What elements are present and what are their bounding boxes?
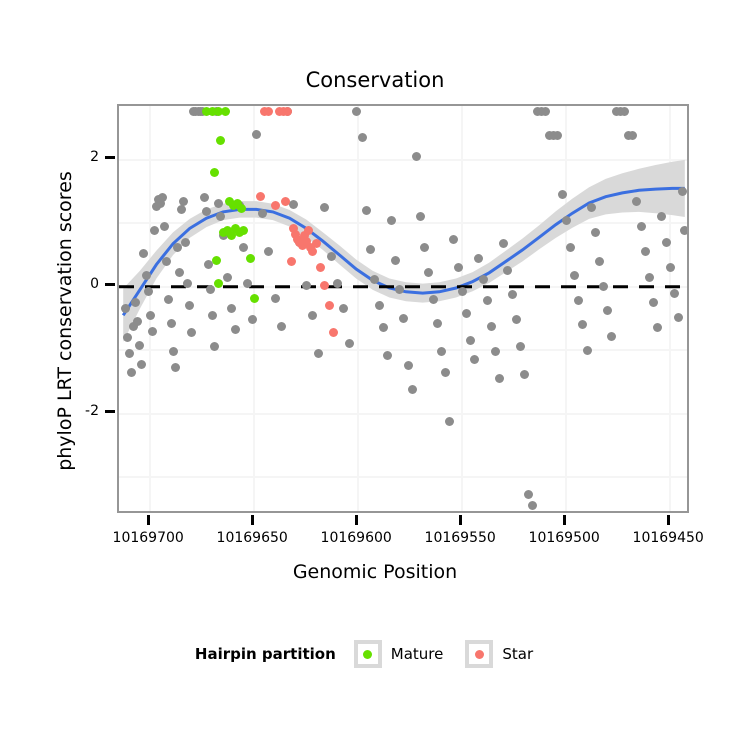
x-tick-mark [563, 515, 566, 525]
legend-label-mature: Mature [391, 645, 444, 663]
data-point-other [562, 216, 571, 225]
data-point-other [179, 197, 188, 206]
y-tick-label: 0 [59, 276, 99, 292]
data-point-other [177, 205, 186, 214]
y-tick-mark [105, 410, 115, 413]
legend-key-star[interactable] [465, 640, 493, 668]
legend-key-mature[interactable] [354, 640, 382, 668]
data-point-other [454, 263, 463, 272]
data-point-other [441, 368, 450, 377]
data-point-other [358, 133, 367, 142]
data-point-other [252, 130, 261, 139]
data-point-other [223, 273, 232, 282]
data-point-other [595, 257, 604, 266]
x-tick-mark [147, 515, 150, 525]
legend-dot-mature [363, 650, 372, 659]
data-point-mature [250, 294, 259, 303]
data-point-other [632, 197, 641, 206]
data-point-other [662, 238, 671, 247]
data-point-mature [246, 254, 255, 263]
data-point-other [408, 385, 417, 394]
data-point-other [637, 222, 646, 231]
data-point-other [135, 341, 144, 350]
x-tick-label: 10169550 [400, 530, 520, 546]
data-point-mature [237, 204, 246, 213]
data-point-other [208, 311, 217, 320]
data-point-other [352, 107, 361, 116]
data-point-other [169, 347, 178, 356]
data-point-other [167, 319, 176, 328]
data-point-other [674, 313, 683, 322]
data-point-other [512, 315, 521, 324]
data-point-other [248, 315, 257, 324]
data-point-other [520, 370, 529, 379]
data-point-other [474, 254, 483, 263]
data-point-other [487, 322, 496, 331]
data-point-other [127, 368, 136, 377]
data-point-other [137, 360, 146, 369]
data-point-other [148, 327, 157, 336]
legend-label-star: Star [502, 645, 533, 663]
data-point-other [570, 271, 579, 280]
data-point-other [302, 281, 311, 290]
data-point-other [587, 203, 596, 212]
data-point-other [445, 417, 454, 426]
data-point-other [670, 289, 679, 298]
data-point-other [214, 199, 223, 208]
y-tick-label: 2 [59, 149, 99, 165]
data-point-other [314, 349, 323, 358]
page-title: Conservation [0, 68, 750, 92]
x-tick-label: 10169500 [504, 530, 624, 546]
y-tick-mark [105, 156, 115, 159]
data-point-star [281, 197, 290, 206]
data-point-other [391, 256, 400, 265]
data-point-other [144, 287, 153, 296]
legend-title: Hairpin partition [195, 645, 336, 663]
x-tick-mark [355, 515, 358, 525]
data-point-other [277, 322, 286, 331]
conservation-scatter-plot: Conservation phyloP LRT conservation sco… [0, 0, 750, 750]
data-point-other [462, 309, 471, 318]
data-point-mature [212, 256, 221, 265]
data-point-other [566, 243, 575, 252]
data-point-other [289, 200, 298, 209]
data-point-other [370, 275, 379, 284]
y-tick-mark [105, 283, 115, 286]
data-point-other [429, 295, 438, 304]
data-point-other [383, 351, 392, 360]
data-point-other [387, 216, 396, 225]
data-point-star [287, 257, 296, 266]
data-point-other [558, 190, 567, 199]
y-axis-title: phyloP LRT conservation scores [54, 111, 76, 531]
data-point-other [458, 287, 467, 296]
data-point-other [666, 263, 675, 272]
data-point-mature [219, 228, 228, 237]
data-point-other [171, 363, 180, 372]
x-tick-label: 10169600 [296, 530, 416, 546]
x-tick-mark [459, 515, 462, 525]
legend: Hairpin partition MatureStar [0, 640, 750, 668]
data-point-other [483, 296, 492, 305]
plot-panel [117, 104, 689, 513]
data-point-star [271, 201, 280, 210]
data-point-other [142, 271, 151, 280]
data-point-other [308, 311, 317, 320]
data-point-other [449, 235, 458, 244]
data-point-star [329, 328, 338, 337]
legend-dot-star [475, 650, 484, 659]
data-point-other [327, 252, 336, 261]
data-point-other [583, 346, 592, 355]
data-point-other [433, 319, 442, 328]
data-point-other [645, 273, 654, 282]
data-point-other [123, 333, 132, 342]
data-point-other [125, 349, 134, 358]
data-point-other [333, 279, 342, 288]
data-point-other [181, 238, 190, 247]
x-axis-title: Genomic Position [0, 561, 750, 583]
data-point-other [508, 290, 517, 299]
data-point-other [680, 226, 689, 235]
x-tick-label: 10169650 [192, 530, 312, 546]
legend-entries: MatureStar [354, 640, 555, 668]
x-tick-label: 10169450 [608, 530, 728, 546]
data-point-other [271, 294, 280, 303]
data-point-other [491, 347, 500, 356]
data-point-other [437, 347, 446, 356]
x-tick-label: 10169700 [88, 530, 208, 546]
data-point-mature [221, 107, 230, 116]
x-tick-mark [667, 515, 670, 525]
y-tick-label: -2 [59, 403, 99, 419]
data-point-star [325, 301, 334, 310]
x-tick-mark [251, 515, 254, 525]
data-point-other [479, 275, 488, 284]
data-point-other [375, 301, 384, 310]
